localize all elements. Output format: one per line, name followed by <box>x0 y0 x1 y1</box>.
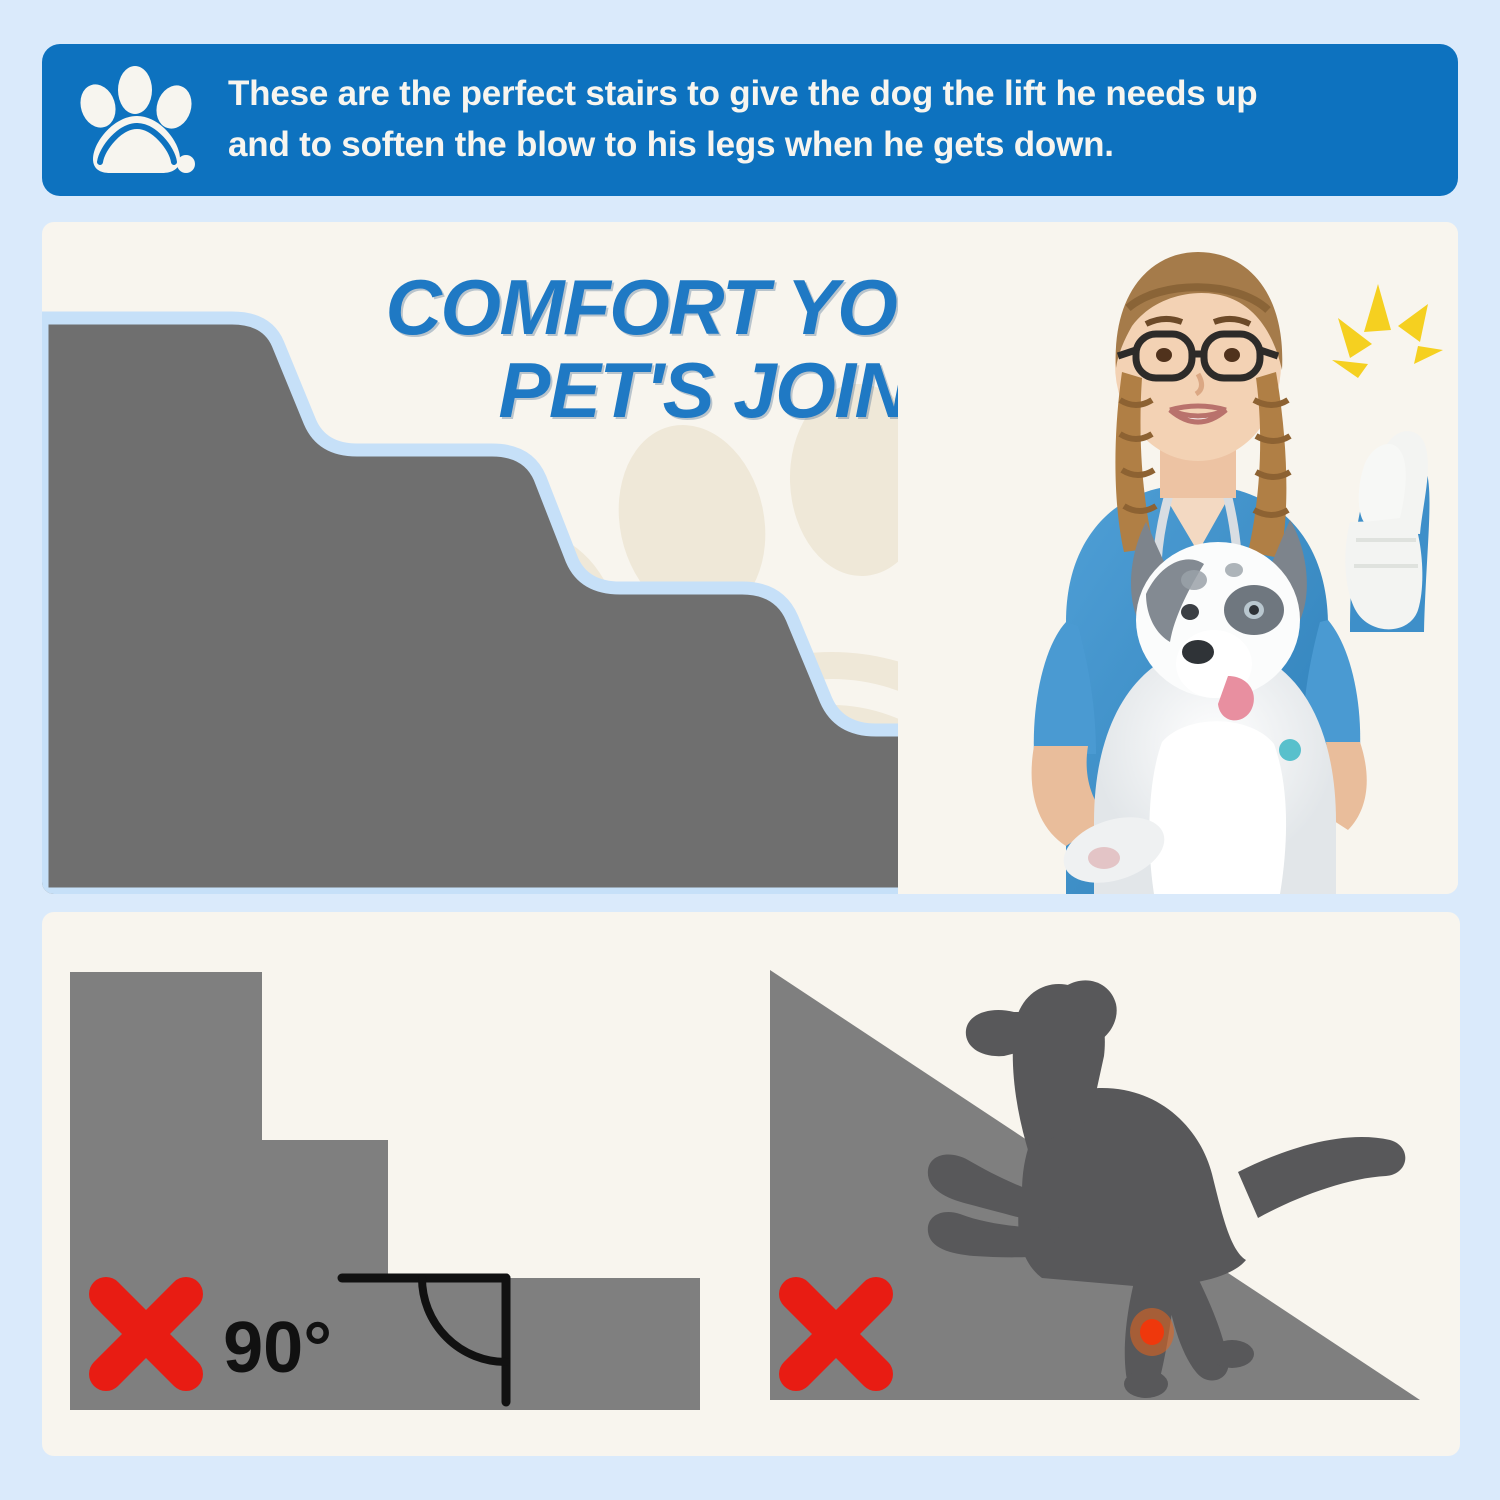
banner-message: These are the perfect stairs to give the… <box>228 69 1257 171</box>
hero-panel: COMFORT YOUR PET'S JOINTS <box>42 222 1458 894</box>
paw-print-icon <box>76 64 200 176</box>
veterinarian-holding-dog-photo <box>898 222 1458 894</box>
inflamed-joint-hotspot <box>1130 1308 1174 1356</box>
angle-label: 90° <box>223 1308 332 1388</box>
page-title-line-2: PET'S JOINTS <box>246 349 1006 432</box>
banner-line-2: and to soften the blow to his legs when … <box>228 120 1257 171</box>
comparison-panel: 90° <box>42 912 1460 1456</box>
page-title: COMFORT YOUR PET'S JOINTS <box>246 266 1006 431</box>
banner-line-1: These are the perfect stairs to give the… <box>228 69 1257 120</box>
sharp-90-degree-stairs-diagram: 90° <box>70 960 700 1410</box>
top-message-banner: These are the perfect stairs to give the… <box>42 44 1458 196</box>
steep-ramp-dog-diagram <box>760 960 1432 1410</box>
infographic-page: These are the perfect stairs to give the… <box>0 0 1500 1500</box>
